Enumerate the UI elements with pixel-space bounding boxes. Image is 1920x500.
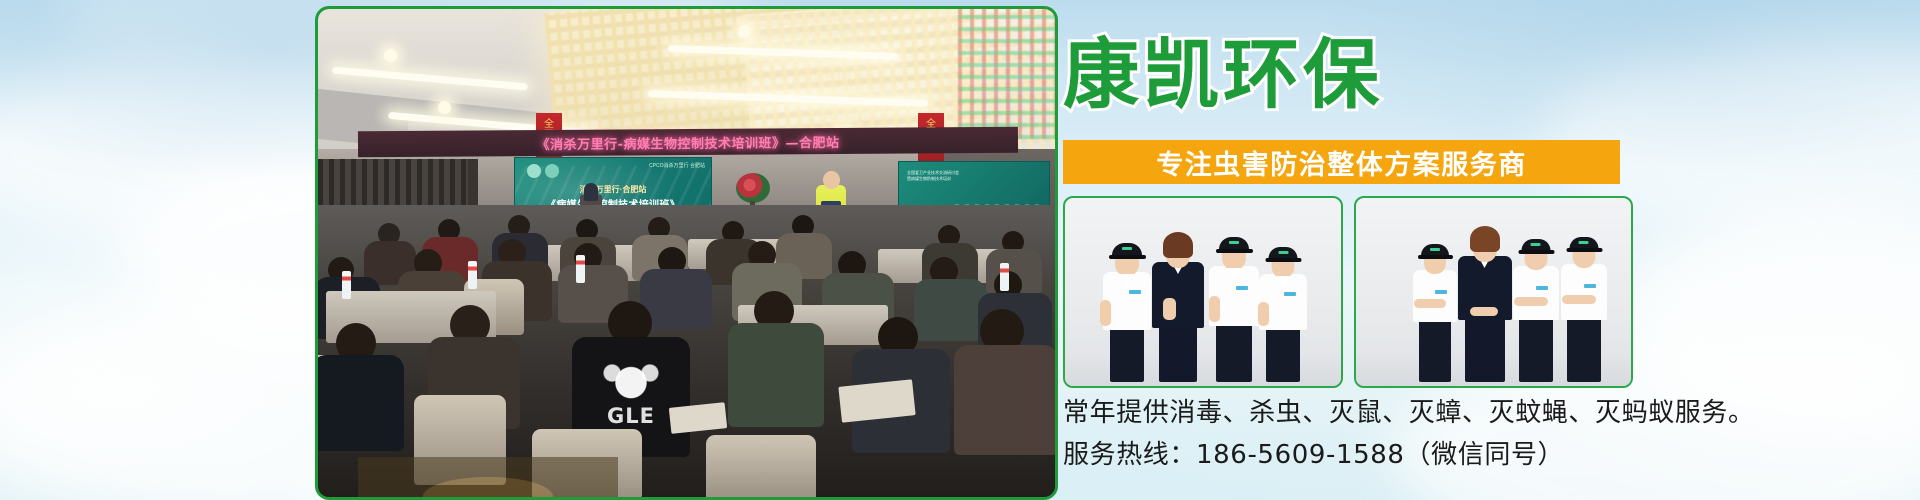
team-photo-row [1063, 196, 1633, 384]
team-photo-thumbs-up [1063, 196, 1343, 388]
hotline-note: （微信同号） [1405, 439, 1565, 469]
audience-seating-area: GLE [318, 205, 1055, 497]
page-title: 康凯环保 [1063, 38, 1383, 114]
hotline-line: 服务热线：186-5609-1588（微信同号） [1063, 434, 1564, 471]
service-description: 常年提供消毒、杀虫、灭鼠、灭蟑、灭蚊蝇、灭蚂蚁服务。 [1063, 392, 1755, 429]
flower-arrangement [736, 173, 770, 203]
led-headline-band: 《消杀万里行-病媒生物控制技术培训班》—合肥站 [358, 127, 1018, 158]
audience-shirt-text: GLE [607, 404, 655, 428]
team-photo-arms-crossed [1354, 196, 1634, 388]
screen-corner-text: CPCO消杀万里行 合肥站 [649, 163, 705, 170]
brand-content-block: 康凯环保 康凯环保 专注虫害防治整体方案服务商 [1063, 0, 1663, 500]
speaker-person [584, 183, 598, 201]
hotline-number[interactable]: 186-5609-1588 [1196, 440, 1405, 470]
brand-subtitle-bar: 专注虫害防治整体方案服务商 [1063, 140, 1620, 184]
promo-banner: 全国 全国 《消杀万里行-病媒生物控制技术培训班》—合肥站 CPCO消杀万里行 … [0, 0, 1920, 500]
led-headline-text: 《消杀万里行-病媒生物控制技术培训班》—合肥站 [536, 131, 839, 152]
brand-subtitle-text: 专注虫害防治整体方案服务商 [1156, 143, 1527, 182]
ceiling-led-grid [958, 9, 1055, 139]
hotline-label: 服务热线： [1063, 439, 1196, 469]
conference-photo: 全国 全国 《消杀万里行-病媒生物控制技术培训班》—合肥站 CPCO消杀万里行 … [315, 6, 1058, 500]
